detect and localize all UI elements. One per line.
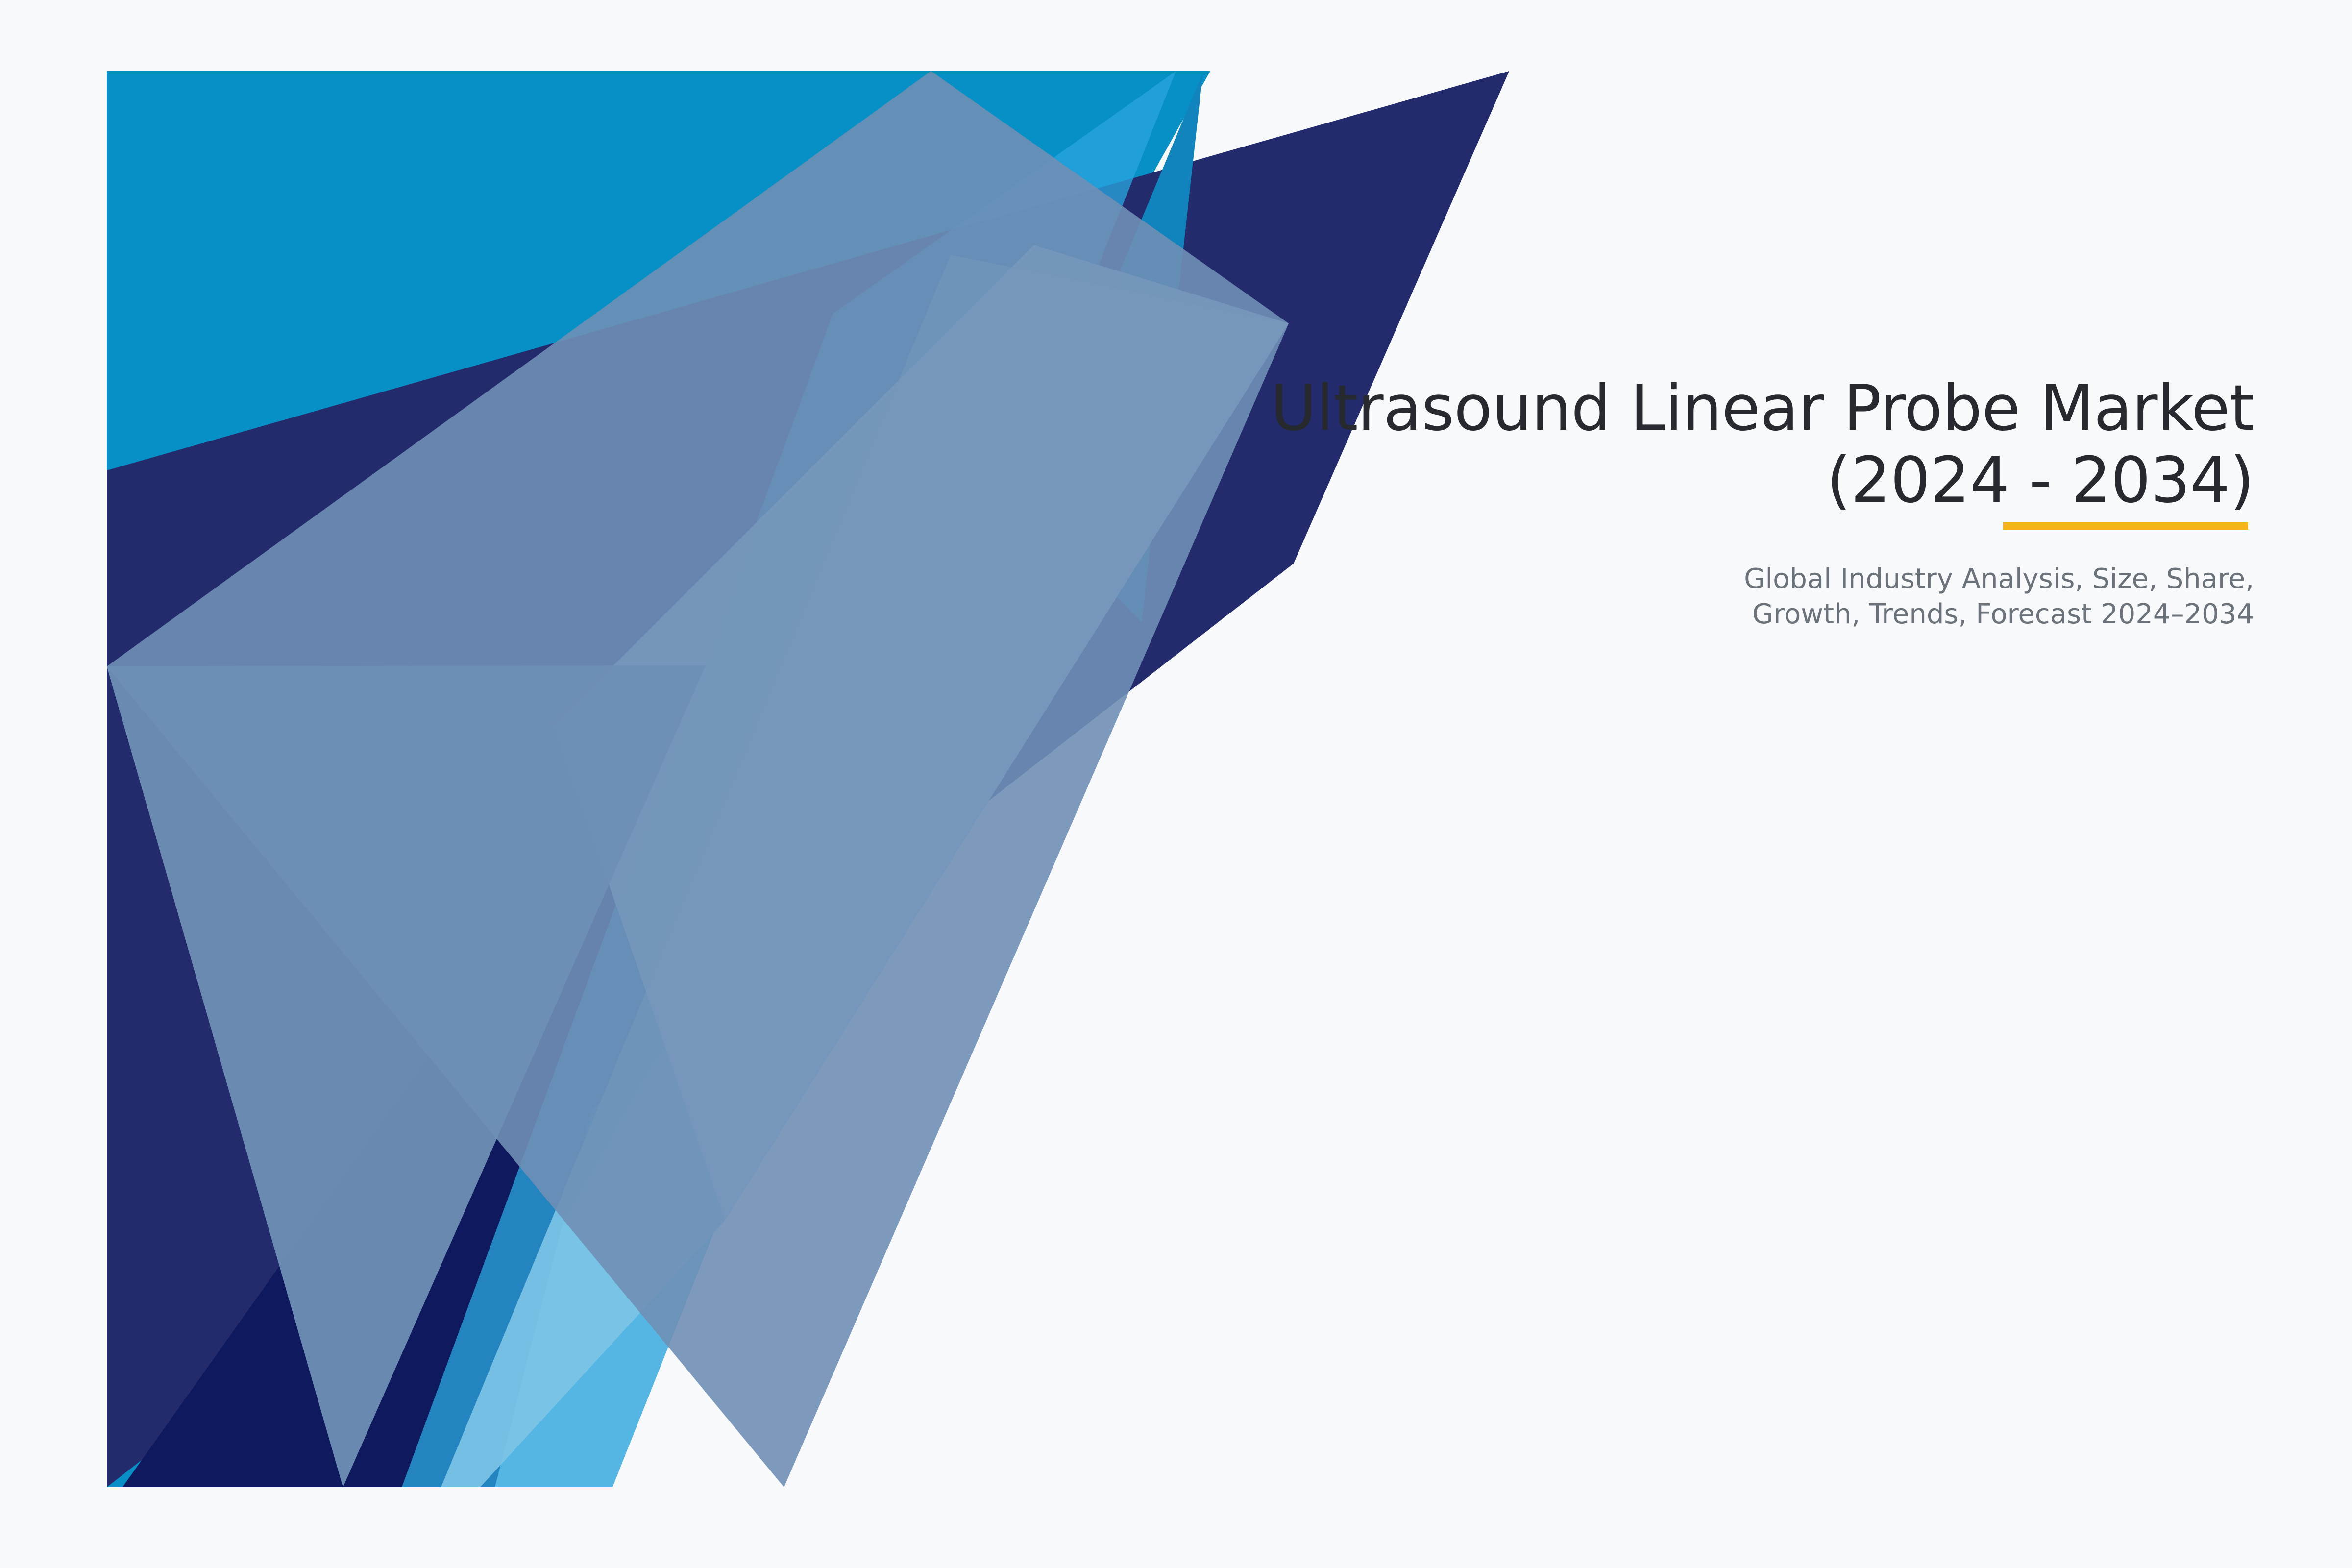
page-subtitle: Global Industry Analysis, Size, Share, G… [1029,562,2254,632]
page-title: Ultrasound Linear Probe Market (2024 - 2… [1029,372,2254,516]
abstract-geometric-banner [0,0,2352,1568]
report-cover: Ultrasound Linear Probe Market (2024 - 2… [0,0,2352,1568]
title-underline-bar [2003,522,2248,530]
cover-text-block: Ultrasound Linear Probe Market (2024 - 2… [1029,372,2254,632]
